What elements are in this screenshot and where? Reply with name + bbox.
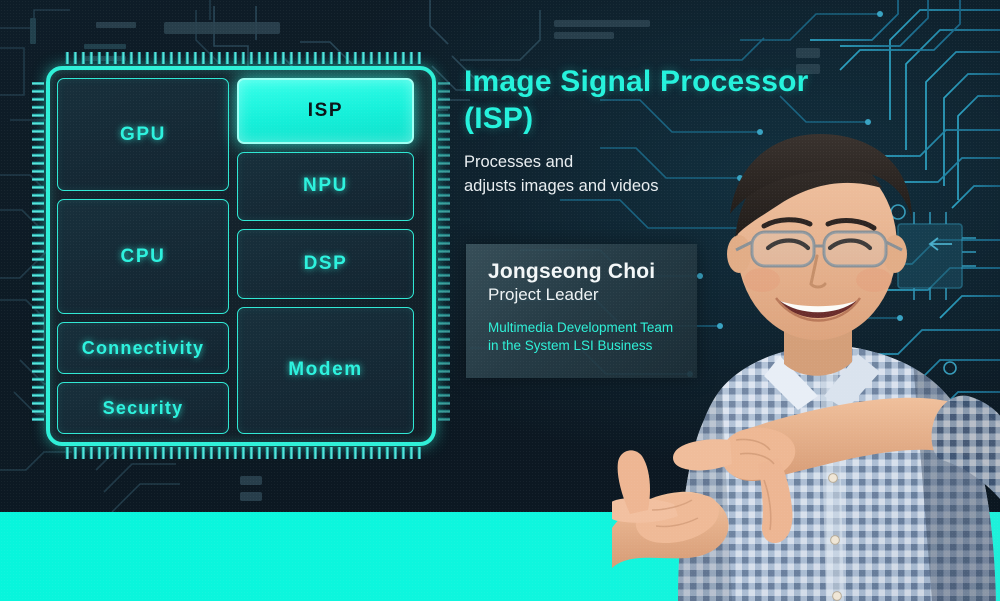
chip-block-isp[interactable]: ISP: [237, 78, 414, 144]
chip-left-column: GPU CPU Connectivity Security: [57, 78, 229, 434]
promo-banner: GPU CPU Connectivity Security ISP NPU DS…: [0, 0, 1000, 601]
chip-block-modem[interactable]: Modem: [237, 307, 414, 434]
soc-chip-diagram: GPU CPU Connectivity Security ISP NPU DS…: [46, 66, 436, 446]
chip-block-npu[interactable]: NPU: [237, 152, 414, 221]
headline-line-1: Image Signal Processor: [464, 64, 824, 101]
chip-block-dsp[interactable]: DSP: [237, 229, 414, 298]
chip-right-column: ISP NPU DSP Modem: [237, 78, 414, 434]
person-photo: [612, 128, 1000, 601]
page-title: Image Signal Processor (ISP): [464, 64, 824, 137]
chip-block-connectivity[interactable]: Connectivity: [57, 322, 229, 374]
chip-block-cpu[interactable]: CPU: [57, 199, 229, 314]
chip-block-gpu[interactable]: GPU: [57, 78, 229, 191]
chip-block-security[interactable]: Security: [57, 382, 229, 434]
